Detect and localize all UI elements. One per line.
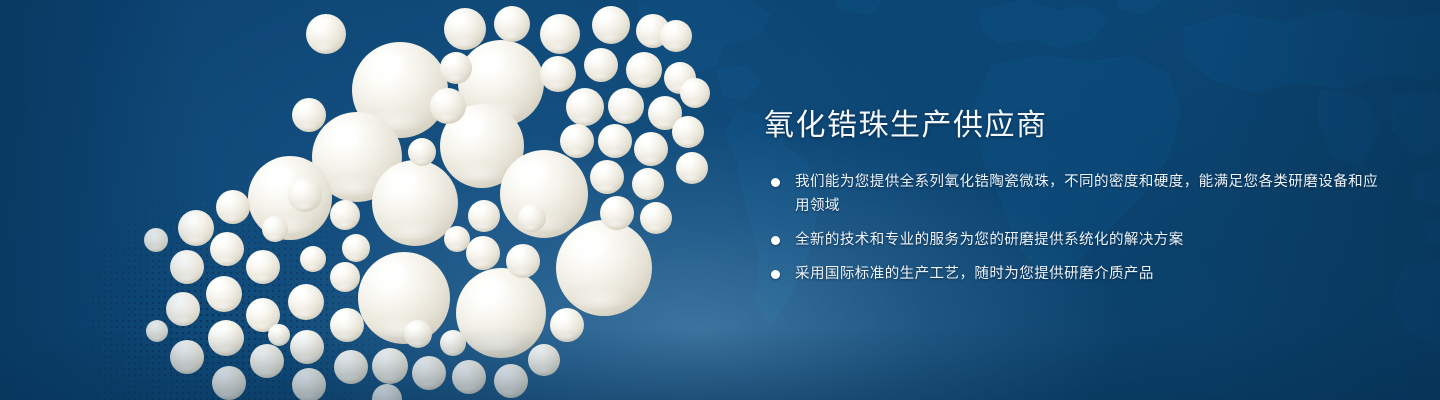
feature-bullet-2: 全新的技术和专业的服务为您的研磨提供系统化的解决方案	[764, 228, 1384, 252]
feature-bullet-3-text: 采用国际标准的生产工艺，随时为您提供研磨介质产品	[795, 262, 1384, 286]
feature-bullet-list: 我们能为您提供全系列氧化锆陶瓷微珠，不同的密度和硬度，能满足您各类研磨设备和应用…	[764, 170, 1384, 286]
hero-banner: 氧化锆珠生产供应商 我们能为您提供全系列氧化锆陶瓷微珠，不同的密度和硬度，能满足…	[0, 0, 1440, 400]
dot-bullet-icon	[771, 236, 780, 245]
feature-bullet-3: 采用国际标准的生产工艺，随时为您提供研磨介质产品	[764, 262, 1384, 286]
dot-bullet-icon	[771, 270, 780, 279]
banner-headline: 氧化锆珠生产供应商	[764, 106, 1384, 146]
dot-bullet-icon	[771, 178, 780, 187]
feature-bullet-1-text: 我们能为您提供全系列氧化锆陶瓷微珠，不同的密度和硬度，能满足您各类研磨设备和应用…	[795, 170, 1384, 218]
feature-bullet-2-text: 全新的技术和专业的服务为您的研磨提供系统化的解决方案	[795, 228, 1384, 252]
banner-content: 氧化锆珠生产供应商 我们能为您提供全系列氧化锆陶瓷微珠，不同的密度和硬度，能满足…	[764, 106, 1384, 286]
feature-bullet-1: 我们能为您提供全系列氧化锆陶瓷微珠，不同的密度和硬度，能满足您各类研磨设备和应用…	[764, 170, 1384, 218]
